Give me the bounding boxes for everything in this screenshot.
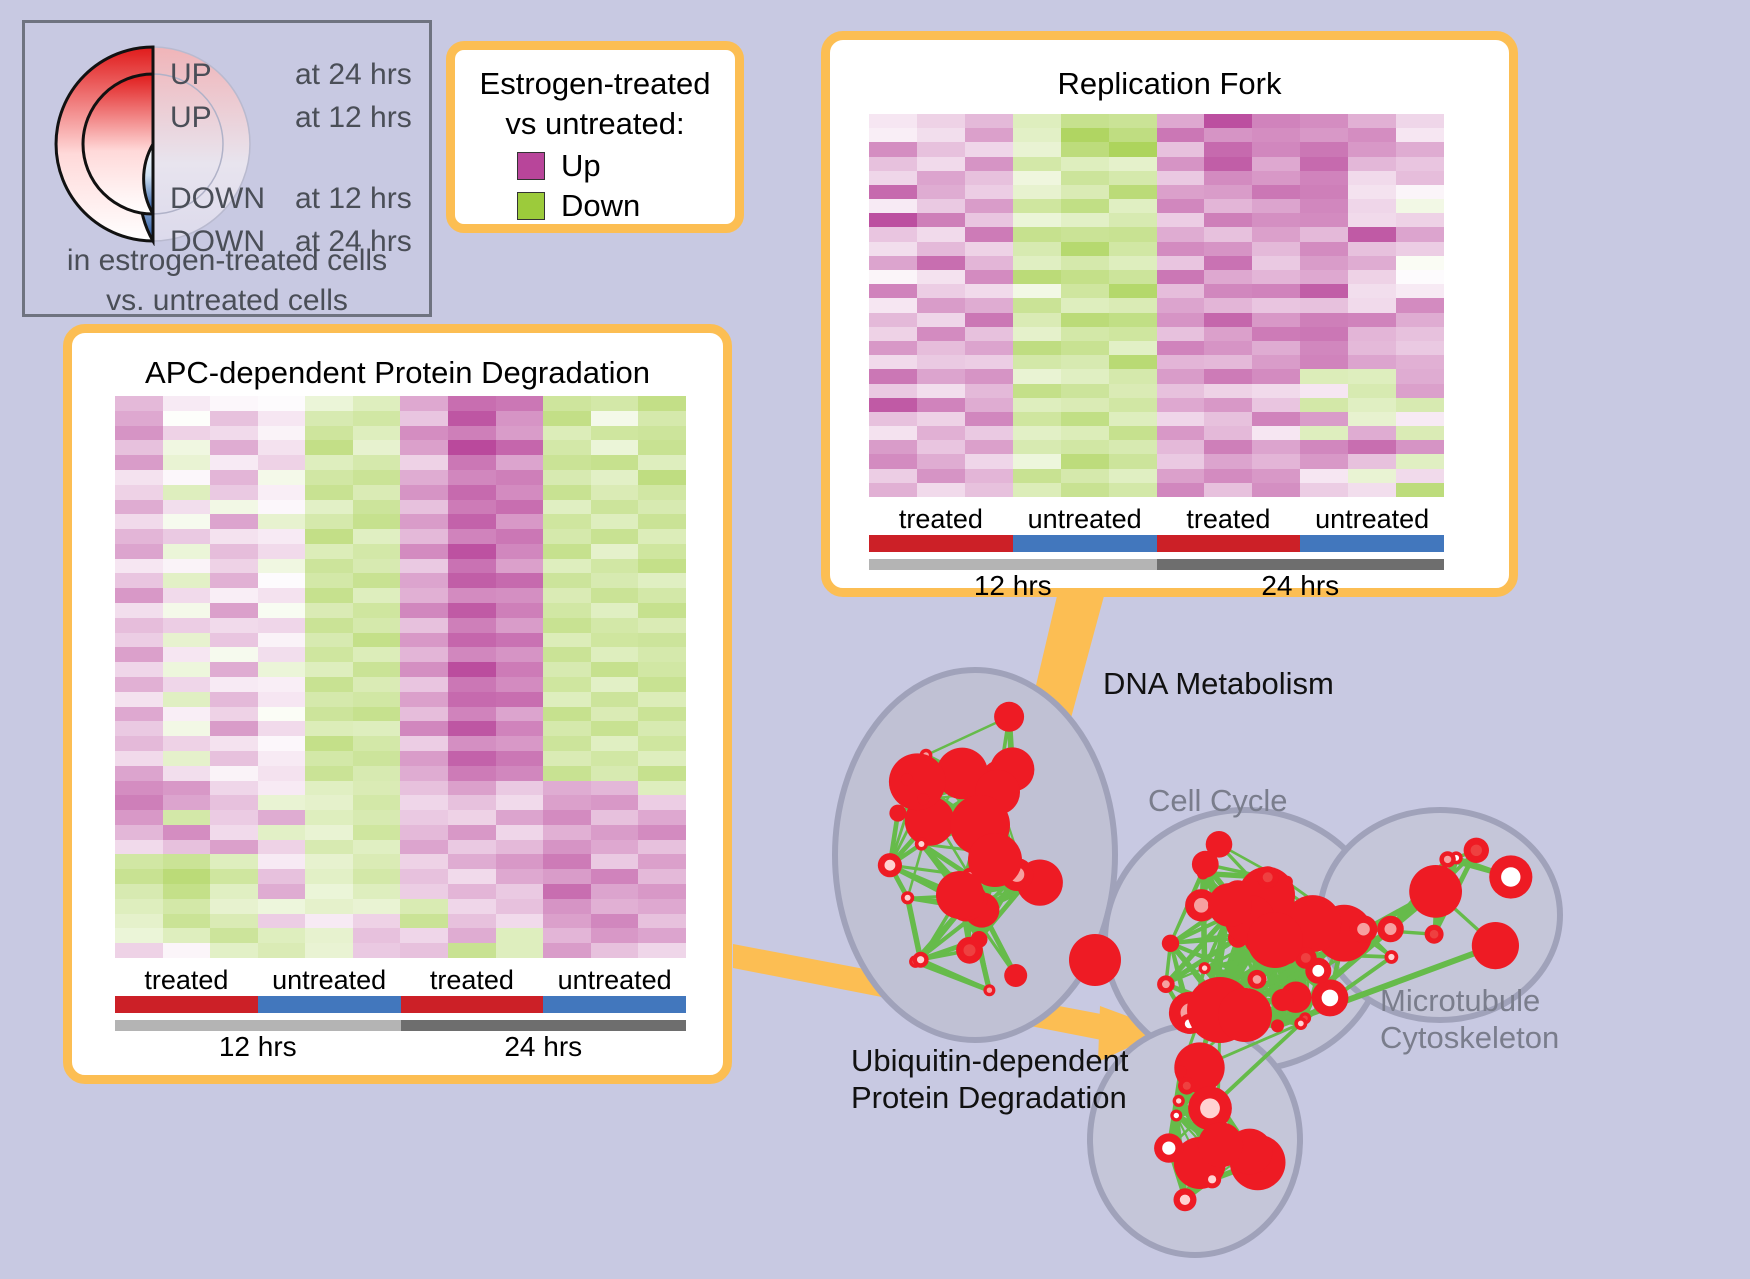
updown-key-box: Estrogen-treated vs untreated: Up Down	[446, 41, 744, 233]
heatmap-cell	[1348, 270, 1396, 284]
heatmap-cell	[965, 426, 1013, 440]
heatmap-cell	[258, 426, 306, 441]
heatmap-cell	[869, 384, 917, 398]
network-node-core	[1357, 923, 1370, 936]
heatmap-cell	[638, 396, 686, 411]
heatmap-cell	[305, 825, 353, 840]
heatmap-cell	[400, 500, 448, 515]
heatmap-cell	[353, 559, 401, 574]
heatmap-cell	[1109, 171, 1157, 185]
heatmap-cell	[496, 411, 544, 426]
heatmap-cell	[210, 899, 258, 914]
network-node[interactable]	[1004, 964, 1027, 987]
heatmap-cell	[1252, 227, 1300, 241]
heatmap-cell	[210, 781, 258, 796]
heatmap-cell	[163, 677, 211, 692]
heatmap-cell	[638, 869, 686, 884]
heatmap-cell	[1300, 256, 1348, 270]
heatmap-cell	[965, 213, 1013, 227]
heatmap-cell	[543, 485, 591, 500]
heatmap-cell	[1396, 270, 1444, 284]
heatmap-cell	[210, 677, 258, 692]
heatmap-cell	[543, 470, 591, 485]
heatmap-cell	[448, 559, 496, 574]
network-node[interactable]	[1271, 1019, 1284, 1032]
heatmap-cell	[305, 721, 353, 736]
heatmap-cell	[1013, 114, 1061, 128]
heatmap-cell	[1013, 157, 1061, 171]
network-node[interactable]	[901, 773, 913, 785]
heatmap-cell	[638, 825, 686, 840]
network-node-core	[1312, 965, 1324, 977]
heatmap-cell	[869, 270, 917, 284]
heatmap-cell	[210, 603, 258, 618]
colorwheel-row: UP at 24 hrs	[170, 53, 430, 96]
heatmap-cell	[1157, 412, 1205, 426]
heatmap-cell	[400, 633, 448, 648]
heatmap-cell	[591, 914, 639, 929]
heatmap-cell	[1013, 142, 1061, 156]
heatmap-cell	[1061, 426, 1109, 440]
network-node[interactable]	[1069, 934, 1121, 986]
heatmap-cell	[1109, 227, 1157, 241]
heatmap-cell	[917, 440, 965, 454]
heatmap-cell	[1157, 454, 1205, 468]
heatmap-cell	[1300, 454, 1348, 468]
network-node[interactable]	[1175, 1065, 1187, 1077]
heatmap-cell	[1204, 114, 1252, 128]
heatmap-cell	[163, 825, 211, 840]
heatmap-cell	[400, 884, 448, 899]
heatmap-cell	[115, 795, 163, 810]
heatmap-cell	[1013, 440, 1061, 454]
heatmap-cell	[965, 128, 1013, 142]
time-bar-segment	[869, 559, 1157, 570]
heatmap-cell	[305, 884, 353, 899]
network-node[interactable]	[1272, 989, 1294, 1011]
heatmap-cell	[1061, 341, 1109, 355]
heatmap-cell	[1061, 142, 1109, 156]
heatmap-cell	[400, 677, 448, 692]
heatmap-cell	[917, 454, 965, 468]
network-node[interactable]	[994, 702, 1024, 732]
heatmap-cell	[1061, 483, 1109, 497]
heatmap-cell	[258, 781, 306, 796]
group-label: untreated	[1300, 504, 1444, 535]
heatmap-cell	[400, 544, 448, 559]
heatmap-cell	[163, 854, 211, 869]
network-node[interactable]	[917, 793, 929, 805]
heatmap-cell	[448, 869, 496, 884]
heatmap-cell	[543, 544, 591, 559]
heatmap-cell	[1396, 142, 1444, 156]
heatmap-cell	[1348, 256, 1396, 270]
heatmap-cell	[1252, 284, 1300, 298]
heatmap-cell	[496, 500, 544, 515]
heatmap-cell	[1013, 213, 1061, 227]
network-node[interactable]	[1472, 922, 1519, 969]
heatmap-cell	[448, 736, 496, 751]
heatmap-cell	[638, 751, 686, 766]
heatmap-cell	[210, 573, 258, 588]
heatmap-cell	[869, 369, 917, 383]
heatmap-cell	[305, 529, 353, 544]
heatmap-cell	[1204, 227, 1252, 241]
heatmap-cell	[1300, 398, 1348, 412]
heatmap-cell	[258, 884, 306, 899]
heatmap-cell	[1157, 114, 1205, 128]
heatmap-cell	[1061, 270, 1109, 284]
heatmap-cell	[496, 943, 544, 958]
heatmap-cell	[1061, 242, 1109, 256]
network-node[interactable]	[1162, 935, 1179, 952]
heatmap-cell	[965, 412, 1013, 426]
heatmap-cell	[1252, 483, 1300, 497]
heatmap-cell	[448, 603, 496, 618]
heatmap-cell	[917, 227, 965, 241]
heatmap-cell	[210, 618, 258, 633]
heatmap-cell	[917, 284, 965, 298]
heatmap-cell	[210, 411, 258, 426]
heatmap-cell	[163, 692, 211, 707]
heatmap-cell	[1348, 483, 1396, 497]
heatmap-cell	[258, 544, 306, 559]
heatmap-cell	[1348, 213, 1396, 227]
network-node-core	[1194, 898, 1209, 913]
heatmap-cell	[1300, 199, 1348, 213]
heatmap-cell	[638, 544, 686, 559]
heatmap-cell	[869, 227, 917, 241]
heatmap-cell	[638, 721, 686, 736]
heatmap-cell	[1300, 157, 1348, 171]
network-node-core	[1388, 954, 1394, 960]
heatmap-cell	[1252, 199, 1300, 213]
heatmap-cell	[1061, 412, 1109, 426]
heatmap-cell	[163, 588, 211, 603]
heatmap-cell	[400, 781, 448, 796]
colorwheel-row-key: DOWN	[170, 177, 295, 220]
heatmap-cell	[1396, 185, 1444, 199]
heatmap-cell	[1204, 242, 1252, 256]
heatmap-cell	[448, 943, 496, 958]
page-title-apc: APC-dependent Protein Degradation	[72, 355, 723, 391]
heatmap-cell	[1348, 327, 1396, 341]
heatmap-cell	[591, 633, 639, 648]
heatmap-cell	[163, 928, 211, 943]
heatmap-cell	[496, 914, 544, 929]
heatmap-replication-fork	[869, 114, 1444, 497]
heatmap-cell	[591, 514, 639, 529]
heatmap-cell	[115, 573, 163, 588]
axis-apc: treateduntreatedtreateduntreated 12 hrs2…	[115, 965, 686, 1063]
heatmap-cell	[1204, 199, 1252, 213]
heatmap-cell	[400, 692, 448, 707]
heatmap-cell	[543, 559, 591, 574]
heatmap-cell	[496, 707, 544, 722]
heatmap-cell	[1013, 298, 1061, 312]
heatmap-cell	[210, 751, 258, 766]
cluster-label-dna-metabolism: DNA Metabolism	[1103, 665, 1334, 702]
heatmap-cell	[353, 795, 401, 810]
network-node-core	[1501, 867, 1520, 886]
heatmap-cell	[1300, 171, 1348, 185]
heatmap-cell	[869, 341, 917, 355]
heatmap-cell	[1348, 426, 1396, 440]
heatmap-cell	[591, 766, 639, 781]
heatmap-cell	[1204, 426, 1252, 440]
heatmap-cell	[1348, 369, 1396, 383]
heatmap-cell	[543, 500, 591, 515]
heatmap-cell	[258, 795, 306, 810]
heatmap-cell	[353, 618, 401, 633]
heatmap-cell	[353, 884, 401, 899]
heatmap-cell	[917, 355, 965, 369]
heatmap-cell	[400, 440, 448, 455]
heatmap-cell	[1252, 256, 1300, 270]
heatmap-cell	[543, 529, 591, 544]
heatmap-cell	[1348, 398, 1396, 412]
heatmap-cell	[1109, 199, 1157, 213]
heatmap-cell	[305, 854, 353, 869]
network-node[interactable]	[1208, 883, 1252, 927]
group-labels-replication-fork: treateduntreatedtreateduntreated	[869, 504, 1444, 535]
network-node[interactable]	[1409, 865, 1462, 918]
heatmap-cell	[353, 544, 401, 559]
heatmap-cell	[1061, 298, 1109, 312]
heatmap-cell	[1396, 114, 1444, 128]
heatmap-cell	[1204, 384, 1252, 398]
heatmap-cell	[163, 810, 211, 825]
heatmap-cell	[115, 647, 163, 662]
heatmap-cell	[543, 736, 591, 751]
heatmap-cell	[543, 573, 591, 588]
updown-key-title: Estrogen-treated vs untreated:	[455, 50, 735, 144]
heatmap-cell	[1157, 313, 1205, 327]
colorwheel-row-time: at 12 hrs	[295, 96, 412, 139]
heatmap-cell	[1348, 298, 1396, 312]
heatmap-cell	[638, 781, 686, 796]
network-node-core	[917, 956, 924, 963]
heatmap-cell	[400, 647, 448, 662]
network-node-core	[1162, 1142, 1175, 1155]
network-node[interactable]	[936, 871, 984, 919]
heatmap-cell	[543, 396, 591, 411]
heatmap-cell	[353, 943, 401, 958]
heatmap-cell	[1300, 426, 1348, 440]
heatmap-cell	[448, 899, 496, 914]
heatmap-cell	[496, 854, 544, 869]
heatmap-cell	[1252, 412, 1300, 426]
heatmap-cell	[496, 692, 544, 707]
heatmap-cell	[496, 869, 544, 884]
heatmap-cell	[400, 411, 448, 426]
heatmap-cell	[1204, 270, 1252, 284]
heatmap-cell	[353, 766, 401, 781]
heatmap-cell	[1109, 256, 1157, 270]
heatmap-cell	[1300, 369, 1348, 383]
heatmap-cell	[869, 157, 917, 171]
heatmap-cell	[965, 327, 1013, 341]
heatmap-cell	[965, 454, 1013, 468]
heatmap-cell	[210, 766, 258, 781]
heatmap-cell	[163, 884, 211, 899]
heatmap-cell	[448, 633, 496, 648]
heatmap-cell	[400, 455, 448, 470]
heatmap-cell	[163, 544, 211, 559]
heatmap-cell	[115, 396, 163, 411]
heatmap-cell	[210, 500, 258, 515]
heatmap-cell	[543, 795, 591, 810]
time-bar-segment	[115, 1020, 401, 1031]
heatmap-cell	[115, 529, 163, 544]
heatmap-cell	[115, 840, 163, 855]
heatmap-cell	[305, 899, 353, 914]
heatmap-cell	[1348, 142, 1396, 156]
heatmap-cell	[1109, 284, 1157, 298]
heatmap-cell	[163, 751, 211, 766]
heatmap-cell	[496, 559, 544, 574]
heatmap-cell	[1300, 384, 1348, 398]
heatmap-cell	[353, 573, 401, 588]
heatmap-cell	[1109, 157, 1157, 171]
heatmap-cell	[1204, 171, 1252, 185]
heatmap-cell	[353, 781, 401, 796]
heatmap-cell	[591, 573, 639, 588]
heatmap-cell	[258, 440, 306, 455]
heatmap-cell	[163, 500, 211, 515]
heatmap-cell	[917, 369, 965, 383]
heatmap-cell	[448, 721, 496, 736]
network-node[interactable]	[889, 805, 906, 822]
time-label: 24 hrs	[401, 1031, 687, 1063]
heatmap-cell	[1061, 384, 1109, 398]
heatmap-cell	[1109, 313, 1157, 327]
heatmap-cell	[210, 736, 258, 751]
group-bar-segment	[543, 996, 686, 1013]
heatmap-cell	[965, 313, 1013, 327]
heatmap-cell	[543, 781, 591, 796]
heatmap-cell	[163, 440, 211, 455]
heatmap-cell	[1109, 398, 1157, 412]
heatmap-cell	[305, 662, 353, 677]
heatmap-cell	[1013, 256, 1061, 270]
heatmap-cell	[543, 899, 591, 914]
heatmap-cell	[591, 810, 639, 825]
heatmap-cell	[115, 440, 163, 455]
heatmap-cell	[1300, 128, 1348, 142]
heatmap-cell	[1396, 242, 1444, 256]
heatmap-cell	[1061, 313, 1109, 327]
heatmap-cell	[591, 677, 639, 692]
heatmap-cell	[1396, 128, 1444, 142]
heatmap-cell	[448, 914, 496, 929]
heatmap-cell	[353, 707, 401, 722]
network-node[interactable]	[1192, 851, 1219, 878]
heatmap-cell	[115, 411, 163, 426]
network-node[interactable]	[971, 931, 988, 948]
heatmap-cell	[400, 470, 448, 485]
heatmap-cell	[591, 440, 639, 455]
heatmap-cell	[1204, 284, 1252, 298]
heatmap-cell	[305, 618, 353, 633]
heatmap-cell	[917, 313, 965, 327]
heatmap-cell	[210, 544, 258, 559]
heatmap-cell	[1252, 440, 1300, 454]
heatmap-cell	[1252, 128, 1300, 142]
heatmap-cell	[1204, 327, 1252, 341]
heatmap-cell	[591, 470, 639, 485]
network-node[interactable]	[1198, 1122, 1243, 1167]
heatmap-cell	[1204, 440, 1252, 454]
heatmap-cell	[400, 707, 448, 722]
heatmap-cell	[1109, 128, 1157, 142]
heatmap-cell	[917, 384, 965, 398]
group-label: untreated	[1013, 504, 1157, 535]
heatmap-cell	[1061, 213, 1109, 227]
heatmap-cell	[917, 242, 965, 256]
heatmap-cell	[1300, 242, 1348, 256]
network-node[interactable]	[1218, 988, 1272, 1042]
colorwheel-row: UP at 12 hrs	[170, 96, 430, 139]
network-node-core	[1471, 845, 1482, 856]
heatmap-cell	[353, 692, 401, 707]
heatmap-cell	[869, 171, 917, 185]
heatmap-cell	[496, 840, 544, 855]
heatmap-cell	[448, 529, 496, 544]
heatmap-cell	[591, 928, 639, 943]
heatmap-cell	[353, 677, 401, 692]
network-node[interactable]	[889, 753, 946, 810]
heatmap-cell	[1300, 483, 1348, 497]
time-labels-apc: 12 hrs24 hrs	[115, 1031, 686, 1063]
heatmap-cell	[965, 114, 1013, 128]
heatmap-cell	[1061, 227, 1109, 241]
heatmap-cell	[1396, 284, 1444, 298]
heatmap-cell	[638, 810, 686, 825]
heatmap-cell	[543, 825, 591, 840]
heatmap-cell	[305, 470, 353, 485]
heatmap-cell	[448, 707, 496, 722]
colorwheel-row-time: at 12 hrs	[295, 177, 412, 220]
heatmap-cell	[400, 825, 448, 840]
heatmap-cell	[163, 914, 211, 929]
heatmap-cell	[115, 662, 163, 677]
heatmap-cell	[1013, 426, 1061, 440]
heatmap-cell	[305, 795, 353, 810]
heatmap-cell	[591, 500, 639, 515]
heatmap-cell	[496, 928, 544, 943]
heatmap-cell	[869, 284, 917, 298]
heatmap-cell	[1396, 412, 1444, 426]
heatmap-cell	[1204, 412, 1252, 426]
heatmap-cell	[1396, 157, 1444, 171]
heatmap-cell	[543, 884, 591, 899]
heatmap-cell	[1252, 454, 1300, 468]
heatmap-cell	[163, 662, 211, 677]
heatmap-cell	[448, 854, 496, 869]
heatmap-cell	[496, 647, 544, 662]
heatmap-cell	[115, 751, 163, 766]
heatmap-cell	[400, 854, 448, 869]
page-title-replication-fork: Replication Fork	[830, 66, 1509, 102]
heatmap-cell	[258, 677, 306, 692]
network-node[interactable]	[1247, 912, 1303, 968]
heatmap-cell	[210, 588, 258, 603]
axis-replication-fork: treateduntreatedtreateduntreated 12 hrs2…	[869, 504, 1444, 602]
heatmap-cell	[1157, 256, 1205, 270]
heatmap-cell	[448, 840, 496, 855]
heatmap-cell	[258, 411, 306, 426]
